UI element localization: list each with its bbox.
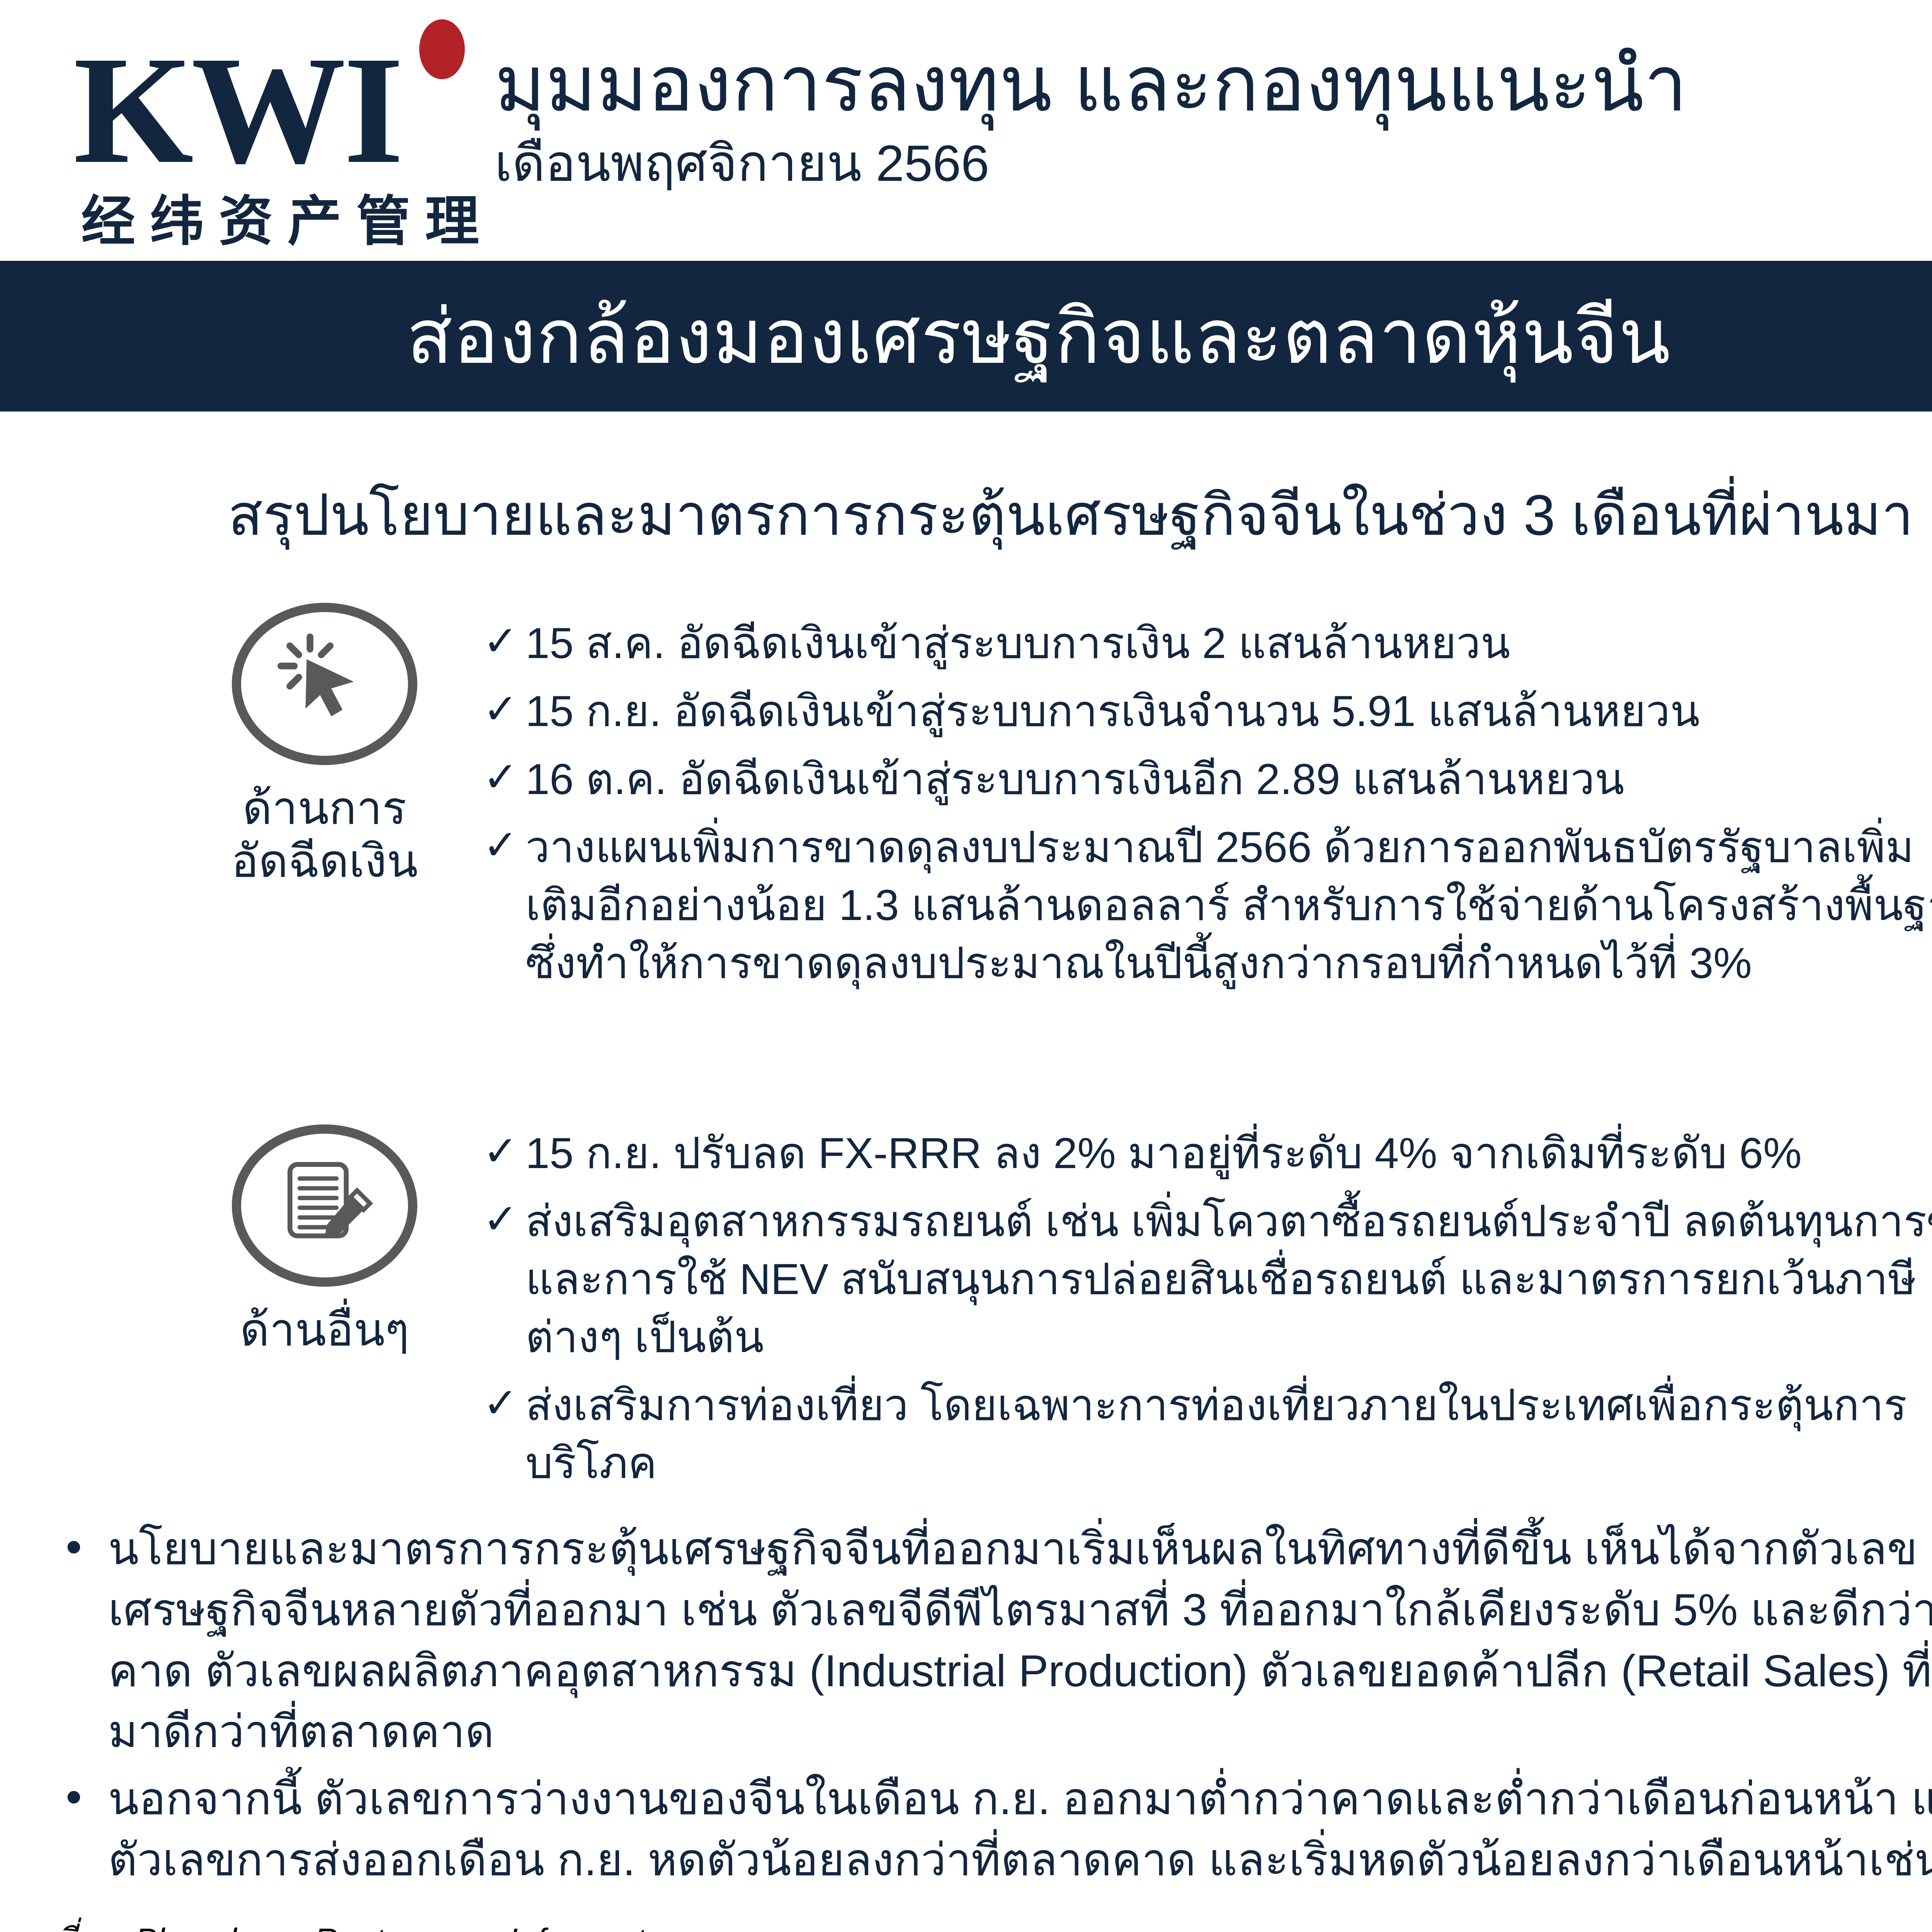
topic-banner-text: ส่องกล้องมองเศรษฐกิจและตลาดหุ้นจีน (406, 276, 1671, 396)
page-title: มุมมองการลงทุน และกองทุนแนะนำ (495, 39, 1932, 130)
bullet-text: ส่งเสริมการท่องเที่ยว โดยเฉพาะการท่องเที… (526, 1376, 1932, 1492)
check-icon: ✓ (483, 750, 526, 804)
summary-bullet-item: • นโยบายและมาตรการกระตุ้นเศรษฐกิจจีนที่อ… (66, 1519, 1932, 1762)
logo-red-dot-icon (419, 19, 465, 79)
bullet-text: 15 ส.ค. อัดฉีดเงินเข้าสู่ระบบการเงิน 2 แ… (526, 614, 1932, 672)
bullet-text: 15 ก.ย. อัดฉีดเงินเข้าสู่ระบบการเงินจำนว… (526, 682, 1932, 740)
group-icon-column: ด้านอื่นๆ (166, 1113, 483, 1357)
logo-wordmark: KWI (73, 33, 401, 187)
topic-banner: ส่องกล้องมองเศรษฐกิจและตลาดหุ้นจีน (0, 261, 1932, 412)
summary-bullet-item: • นอกจากนี้ ตัวเลขการว่างงานของจีนในเดือ… (66, 1769, 1932, 1891)
group-bullet-list: ✓ 15 ก.ย. ปรับลด FX-RRR ลง 2% มาอยู่ที่ร… (483, 1113, 1932, 1502)
logo-chinese-name: 经纬资产管理 (81, 178, 494, 256)
kwi-logo: KWI 经纬资产管理 (70, 12, 464, 251)
check-icon: ✓ (483, 1376, 526, 1430)
bullet-text: 15 ก.ย. ปรับลด FX-RRR ลง 2% มาอยู่ที่ระด… (526, 1124, 1932, 1182)
check-icon: ✓ (483, 1192, 526, 1247)
header-title-block: มุมมองการลงทุน และกองทุนแนะนำ เดือนพฤศจิ… (495, 39, 1932, 194)
bullet-item: ✓ วางแผนเพิ่มการขาดดุลงบประมาณปี 2566 ด้… (483, 818, 1932, 992)
bullet-dot-icon: • (66, 1519, 108, 1575)
summary-bullet-text: นโยบายและมาตรการกระตุ้นเศรษฐกิจจีนที่ออก… (108, 1519, 1932, 1762)
document-pencil-icon (232, 1124, 417, 1287)
bullet-item: ✓ 15 ก.ย. ปรับลด FX-RRR ลง 2% มาอยู่ที่ร… (483, 1124, 1932, 1182)
group-icon-label: ด้านอื่นๆ (240, 1304, 409, 1357)
check-icon: ✓ (483, 614, 526, 668)
check-icon: ✓ (483, 682, 526, 736)
bullet-item: ✓ ส่งเสริมอุตสาหกรรมรถยนต์ เช่น เพิ่มโคว… (483, 1192, 1932, 1366)
group-icon-label: ด้านการ อัดฉีดเงิน (231, 782, 418, 888)
page-header: KWI 经纬资产管理 มุมมองการลงทุน และกองทุนแนะนำ… (0, 0, 1932, 261)
content-group-other-measures: ด้านอื่นๆ ✓ 15 ก.ย. ปรับลด FX-RRR ลง 2% … (166, 1113, 1932, 1502)
group-icon-label-line2: อัดฉีดเงิน (231, 835, 418, 888)
source-note: ที่มา: Bloomberg, Reuters และ Infoquest (54, 1913, 645, 1932)
content-group-money-injection: ด้านการ อัดฉีดเงิน ✓ 15 ส.ค. อัดฉีดเงินเ… (166, 603, 1932, 1002)
click-cursor-icon (232, 603, 417, 765)
check-icon: ✓ (483, 818, 526, 872)
summary-bullet-text: นอกจากนี้ ตัวเลขการว่างงานของจีนในเดือน … (108, 1769, 1932, 1891)
group-icon-label-line1: ด้านอื่นๆ (240, 1304, 409, 1357)
group-icon-label-line1: ด้านการ (231, 782, 418, 835)
check-icon: ✓ (483, 1124, 526, 1179)
page-subtitle: เดือนพฤศจิกายน 2566 (495, 133, 1932, 194)
section-heading: สรุปนโยบายและมาตรการกระตุ้นเศรษฐกิจจีนใน… (228, 469, 1913, 560)
summary-bullet-list: • นโยบายและมาตรการกระตุ้นเศรษฐกิจจีนที่อ… (66, 1519, 1932, 1897)
bullet-item: ✓ 16 ต.ค. อัดฉีดเงินเข้าสู่ระบบการเงินอี… (483, 750, 1932, 808)
group-icon-column: ด้านการ อัดฉีดเงิน (166, 603, 483, 888)
bullet-text: ส่งเสริมอุตสาหกรรมรถยนต์ เช่น เพิ่มโควตา… (526, 1192, 1932, 1366)
bullet-item: ✓ ส่งเสริมการท่องเที่ยว โดยเฉพาะการท่องเ… (483, 1376, 1932, 1492)
bullet-item: ✓ 15 ส.ค. อัดฉีดเงินเข้าสู่ระบบการเงิน 2… (483, 614, 1932, 672)
bullet-item: ✓ 15 ก.ย. อัดฉีดเงินเข้าสู่ระบบการเงินจำ… (483, 682, 1932, 740)
bullet-dot-icon: • (66, 1769, 108, 1825)
bullet-text: วางแผนเพิ่มการขาดดุลงบประมาณปี 2566 ด้วย… (526, 818, 1932, 992)
bullet-text: 16 ต.ค. อัดฉีดเงินเข้าสู่ระบบการเงินอีก … (526, 750, 1932, 808)
group-bullet-list: ✓ 15 ส.ค. อัดฉีดเงินเข้าสู่ระบบการเงิน 2… (483, 603, 1932, 1002)
